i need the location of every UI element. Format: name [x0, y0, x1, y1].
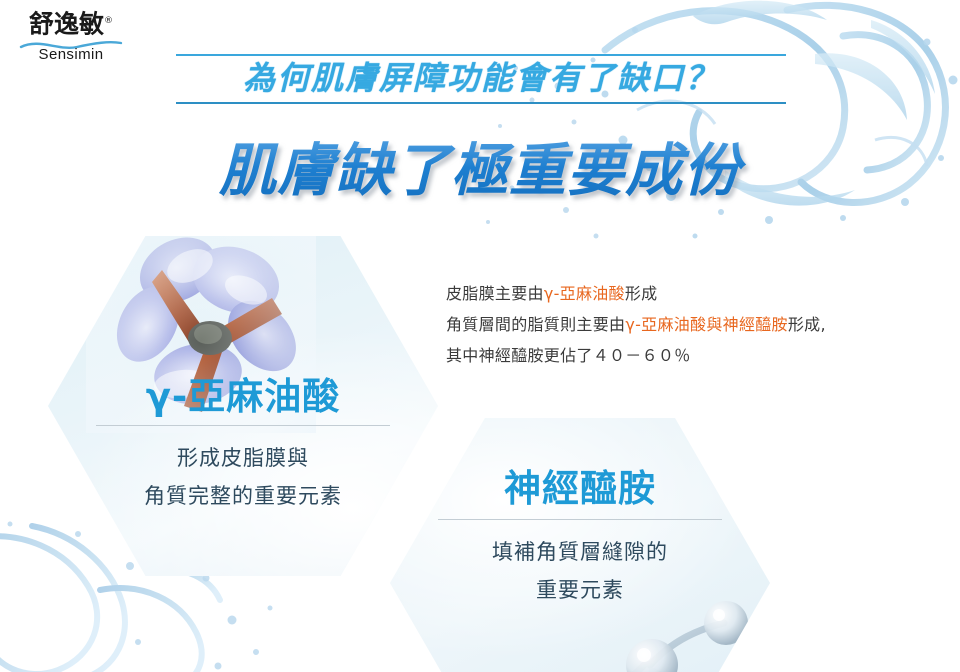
body-paragraph: 皮脂膜主要由γ-亞麻油酸形成 角質層間的脂質則主要由γ-亞麻油酸與神經醯胺形成,…	[446, 278, 946, 371]
brand-logo: 舒逸敏® Sensimin	[16, 6, 126, 63]
paragraph-line-1-highlight: γ-亞麻油酸	[544, 284, 625, 303]
paragraph-line-1-prefix: 皮脂膜主要由	[446, 284, 544, 303]
subheadline-rule-bottom	[176, 102, 786, 104]
paragraph-line-1-suffix: 形成	[625, 284, 658, 303]
logo-chinese-name: 舒逸敏®	[16, 6, 126, 39]
paragraph-line-2-suffix: 形成,	[788, 315, 826, 334]
registered-trademark-icon: ®	[104, 16, 113, 26]
hexagon-card-gamma-linolenic-acid: γ-亞麻油酸 形成皮脂膜與 角質完整的重要元素	[48, 236, 438, 576]
hexagon-1-description-line-2: 角質完整的重要元素	[48, 477, 438, 515]
hexagon-2-title: 神經醯胺	[390, 458, 770, 512]
hexagon-2-divider	[438, 519, 722, 520]
hexagon-1-title: γ-亞麻油酸	[48, 366, 438, 420]
hexagon-1-divider	[96, 425, 390, 426]
hexagon-1-description: 形成皮脂膜與 角質完整的重要元素	[48, 439, 438, 515]
paragraph-line-2-highlight: γ-亞麻油酸與神經醯胺	[625, 315, 788, 334]
paragraph-line-3: 其中神經醯胺更佔了４０－６０％	[446, 340, 946, 371]
hexagon-2-description-line-2: 重要元素	[390, 571, 770, 609]
subheadline-block: 為何肌膚屏障功能會有了缺口？	[176, 54, 786, 104]
hexagon-1-description-line-1: 形成皮脂膜與	[48, 439, 438, 477]
main-headline-text: 肌膚缺了極重要成份	[150, 136, 810, 206]
paragraph-line-2-prefix: 角質層間的脂質則主要由	[446, 315, 625, 334]
hexagon-card-ceramide: 神經醯胺 填補角質層縫隙的 重要元素	[390, 418, 770, 672]
paragraph-line-2: 角質層間的脂質則主要由γ-亞麻油酸與神經醯胺形成,	[446, 309, 946, 340]
subheadline-text: 為何肌膚屏障功能會有了缺口？	[176, 56, 786, 100]
hexagon-2-description-line-1: 填補角質層縫隙的	[390, 533, 770, 571]
poster-canvas: 舒逸敏® Sensimin 為何肌膚屏障功能會有了缺口？ 肌膚缺了極重要成份 皮…	[0, 0, 960, 672]
main-headline-block: 肌膚缺了極重要成份	[150, 136, 810, 206]
hexagon-2-description: 填補角質層縫隙的 重要元素	[390, 533, 770, 609]
paragraph-line-1: 皮脂膜主要由γ-亞麻油酸形成	[446, 278, 946, 309]
